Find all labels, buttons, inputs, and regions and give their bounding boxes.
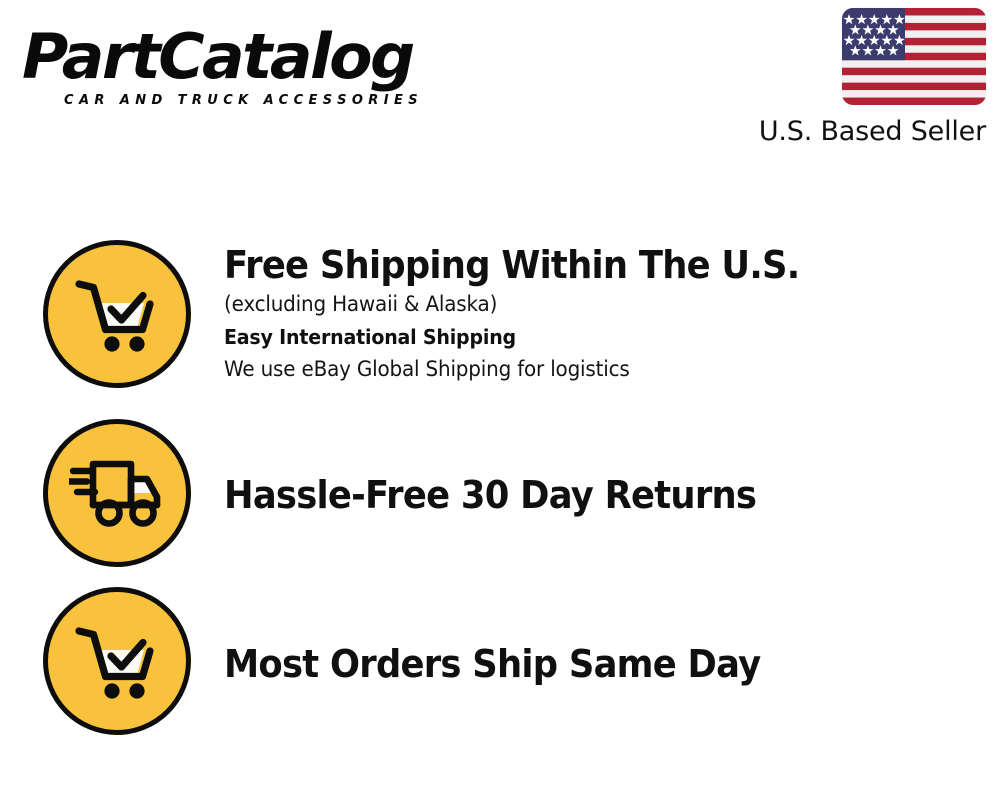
us-based-seller-badge: U.S. Based Seller bbox=[716, 8, 986, 147]
brand-tagline: CAR AND TRUCK ACCESSORIES bbox=[64, 93, 492, 108]
feature-heading: Hassle-Free 30 Day Returns bbox=[224, 472, 946, 518]
brand-wordmark: PartCatalog bbox=[22, 22, 501, 92]
feature-text-same-day-ship: Most Orders Ship Same Day bbox=[224, 583, 1000, 687]
shopping-cart-check-icon bbox=[43, 240, 191, 388]
feature-row-free-shipping: Free Shipping Within The U.S. (excluding… bbox=[0, 240, 1000, 410]
feature-sub-heading: Easy International Shipping bbox=[224, 320, 961, 354]
feature-sub-text: We use eBay Global Shipping for logistic… bbox=[224, 354, 961, 385]
us-based-seller-label: U.S. Based Seller bbox=[716, 116, 986, 147]
feature-heading: Most Orders Ship Same Day bbox=[224, 641, 946, 687]
feature-heading: Free Shipping Within The U.S. bbox=[224, 242, 946, 288]
feature-row-returns: Hassle-Free 30 Day Returns bbox=[0, 410, 1000, 583]
feature-list: Free Shipping Within The U.S. (excluding… bbox=[0, 240, 1000, 743]
feature-text-returns: Hassle-Free 30 Day Returns bbox=[224, 410, 1000, 518]
us-flag-icon bbox=[842, 8, 986, 105]
delivery-truck-icon bbox=[43, 419, 191, 567]
brand-logo[interactable]: PartCatalog CAR AND TRUCK ACCESSORIES bbox=[22, 22, 492, 117]
feature-note: (excluding Hawaii & Alaska) bbox=[224, 288, 961, 320]
shopping-cart-check-icon bbox=[43, 587, 191, 735]
feature-text-free-shipping: Free Shipping Within The U.S. (excluding… bbox=[224, 240, 1000, 385]
page-header: PartCatalog CAR AND TRUCK ACCESSORIES bbox=[0, 0, 1000, 175]
feature-row-same-day-ship: Most Orders Ship Same Day bbox=[0, 583, 1000, 743]
